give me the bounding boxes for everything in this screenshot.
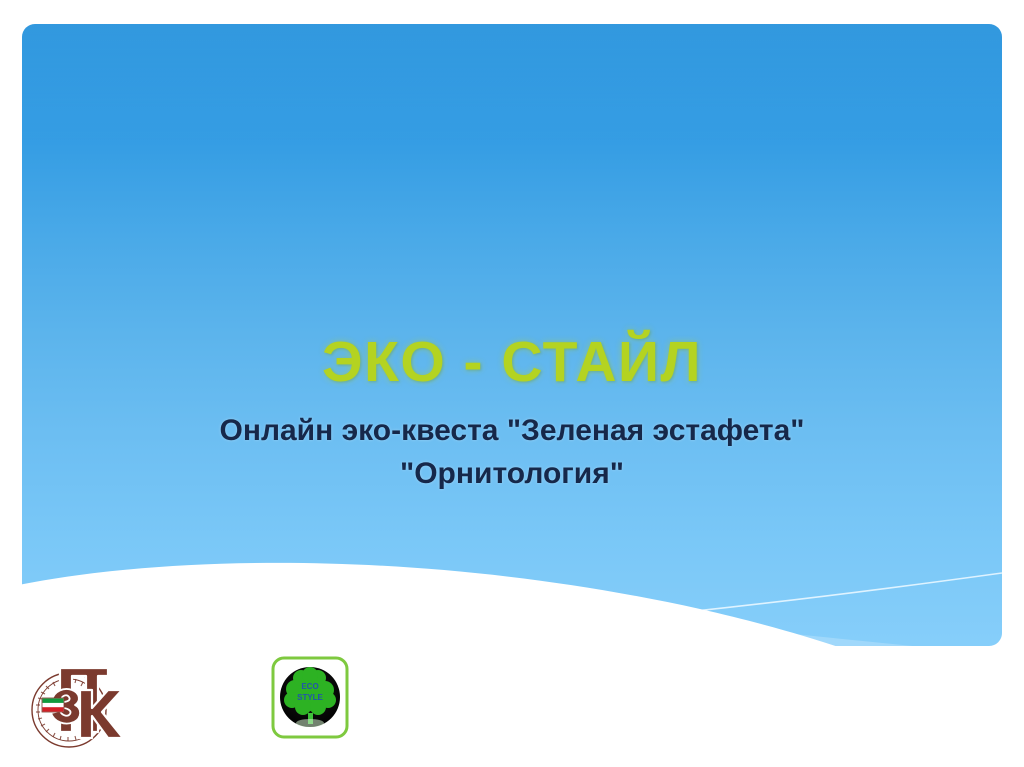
eco-tree-glow <box>296 719 324 727</box>
eco-style-logo: ECO STYLE <box>270 653 352 745</box>
slide-subtitle-line-1: Онлайн эко-квеста "Зеленая эстафета" <box>96 410 928 453</box>
eco-wordmark-line1: ECO <box>301 682 318 691</box>
wave-band-lower <box>22 663 1002 767</box>
college-emblem-logo <box>22 658 126 762</box>
eco-wordmark-line2: STYLE <box>297 693 323 702</box>
panel-top-sheen <box>22 24 1002 144</box>
slide-subtitle-line-2: "Орнитология" <box>96 453 928 496</box>
emblem-letter-k <box>80 690 123 738</box>
emblem-flag <box>42 698 64 712</box>
slide-title: ЭКО - СТАЙЛ <box>0 332 1024 394</box>
slide-subtitle: Онлайн эко-квеста "Зеленая эстафета" "Ор… <box>96 410 928 495</box>
presentation-slide: ЭКО - СТАЙЛ Онлайн эко-квеста "Зеленая э… <box>0 0 1024 767</box>
